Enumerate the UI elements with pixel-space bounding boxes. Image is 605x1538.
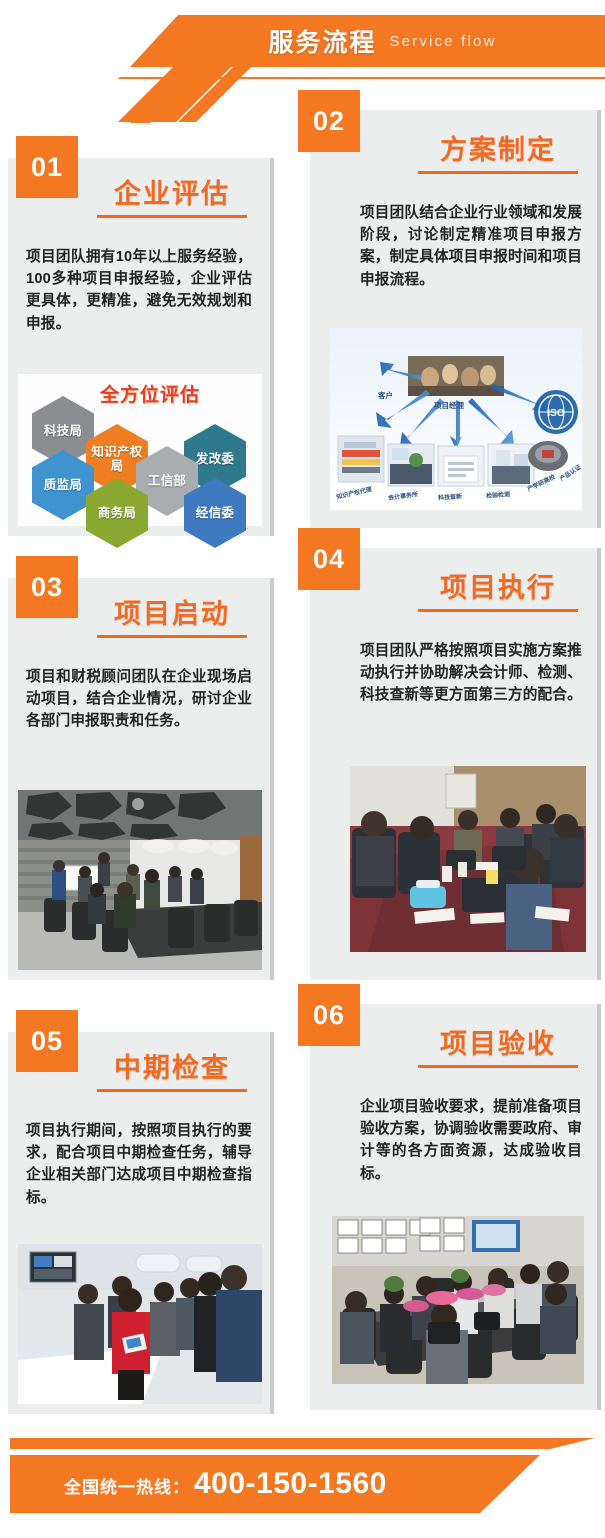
title-underline <box>418 171 578 174</box>
osd-service-inspection: 检验检测 <box>486 489 511 500</box>
header-banner: 服务流程 Service flow <box>130 15 605 67</box>
footer-top-stripe <box>10 1438 595 1449</box>
hexagon-diagram-title: 全方位评估 <box>100 380 200 407</box>
step-card-03[interactable]: 03 项目启动 项目和财税顾问团队在企业现场启动项目，结合企业情况，研讨企业各部… <box>8 578 270 980</box>
step-photo <box>18 1244 262 1404</box>
step-number-badge: 02 <box>298 90 360 152</box>
hotline-label: 全国统一热线： <box>64 1473 190 1498</box>
osd-label-customer: 客户 <box>378 390 393 401</box>
card-body-text: 企业项目验收要求，提前准备项目验收方案，协调验收需要政府、审计等的各方面资源，达… <box>360 1096 582 1185</box>
card-title: 项目启动 <box>86 592 258 631</box>
title-underline <box>418 609 578 612</box>
step-card-01[interactable]: 01 企业评估 项目团队拥有10年以上服务经验，100多种项目申报经验，企业评估… <box>8 158 270 536</box>
card-title: 企业评估 <box>86 172 258 211</box>
card-body-text: 项目执行期间，按照项目执行的要求，配合项目中期检查任务，辅导企业相关部门达成项目… <box>26 1120 252 1209</box>
header-title-en: Service flow <box>389 33 496 50</box>
step-card-04[interactable]: 04 项目执行 项目团队严格按照项目实施方案推动执行并协助解决会计师、检测、科技… <box>310 548 597 980</box>
step-photo <box>350 766 586 952</box>
card-body-text: 项目团队结合企业行业领域和发展阶段，讨论制定精准项目申报方案，制定具体项目申报时… <box>360 202 582 291</box>
osd-service-tech-search: 科技查新 <box>438 491 463 502</box>
step-number-badge: 05 <box>16 1010 78 1072</box>
one-stop-service-diagram: 一站式服务 <box>330 328 582 510</box>
card-title: 方案制定 <box>410 128 586 167</box>
card-body-text: 项目团队拥有10年以上服务经验，100多种项目申报经验，企业评估更具体，更精准，… <box>26 246 252 335</box>
card-body-text: 项目团队严格按照项目实施方案推动执行并协助解决会计师、检测、科技查新等更方面第三… <box>360 640 582 707</box>
card-title: 中期检查 <box>86 1046 258 1085</box>
step-card-02[interactable]: 02 方案制定 项目团队结合企业行业领域和发展阶段，讨论制定精准项目申报方案，制… <box>310 110 597 528</box>
step-photo <box>332 1216 584 1384</box>
step-card-05[interactable]: 05 中期检查 项目执行期间，按照项目执行的要求，配合项目中期检查任务，辅导企业… <box>8 1032 270 1414</box>
step-number-badge: 03 <box>16 556 78 618</box>
hex-node-zhijianju: 质监局 <box>32 450 94 520</box>
step-photo <box>18 790 262 970</box>
step-number-badge: 01 <box>16 136 78 198</box>
card-title: 项目执行 <box>410 566 586 605</box>
card-title: 项目验收 <box>410 1022 586 1061</box>
page-footer: 全国统一热线： 400-150-1560 <box>0 1430 605 1538</box>
footer-banner: 全国统一热线： 400-150-1560 <box>10 1455 595 1513</box>
card-body-text: 项目和财税顾问团队在企业现场启动项目，结合企业情况，研讨企业各部门申报职责和任务… <box>26 666 252 733</box>
title-underline <box>418 1065 578 1068</box>
osd-label-project-manager: 项目经理 <box>434 400 464 411</box>
step-card-06[interactable]: 06 项目验收 企业项目验收要求，提前准备项目验收方案，协调验收需要政府、审计等… <box>310 1004 597 1410</box>
svg-text:ISO: ISO <box>547 408 564 419</box>
hotline-phone[interactable]: 400-150-1560 <box>194 1467 387 1501</box>
project-execution-photo-icon <box>350 766 586 952</box>
title-underline <box>97 1089 247 1092</box>
meeting-room-photo-icon <box>18 790 262 970</box>
header-title-cn: 服务流程 <box>268 23 376 59</box>
showroom-visit-photo-icon <box>18 1244 262 1404</box>
step-number-badge: 04 <box>298 528 360 590</box>
title-underline <box>97 215 247 218</box>
hexagon-diagram: 全方位评估 科技局 知识产权局 发改委 质监局 工信部 商务局 经信委 <box>18 374 262 526</box>
step-number-badge: 06 <box>298 984 360 1046</box>
acceptance-meeting-photo-icon <box>332 1216 584 1384</box>
title-underline <box>97 635 247 638</box>
